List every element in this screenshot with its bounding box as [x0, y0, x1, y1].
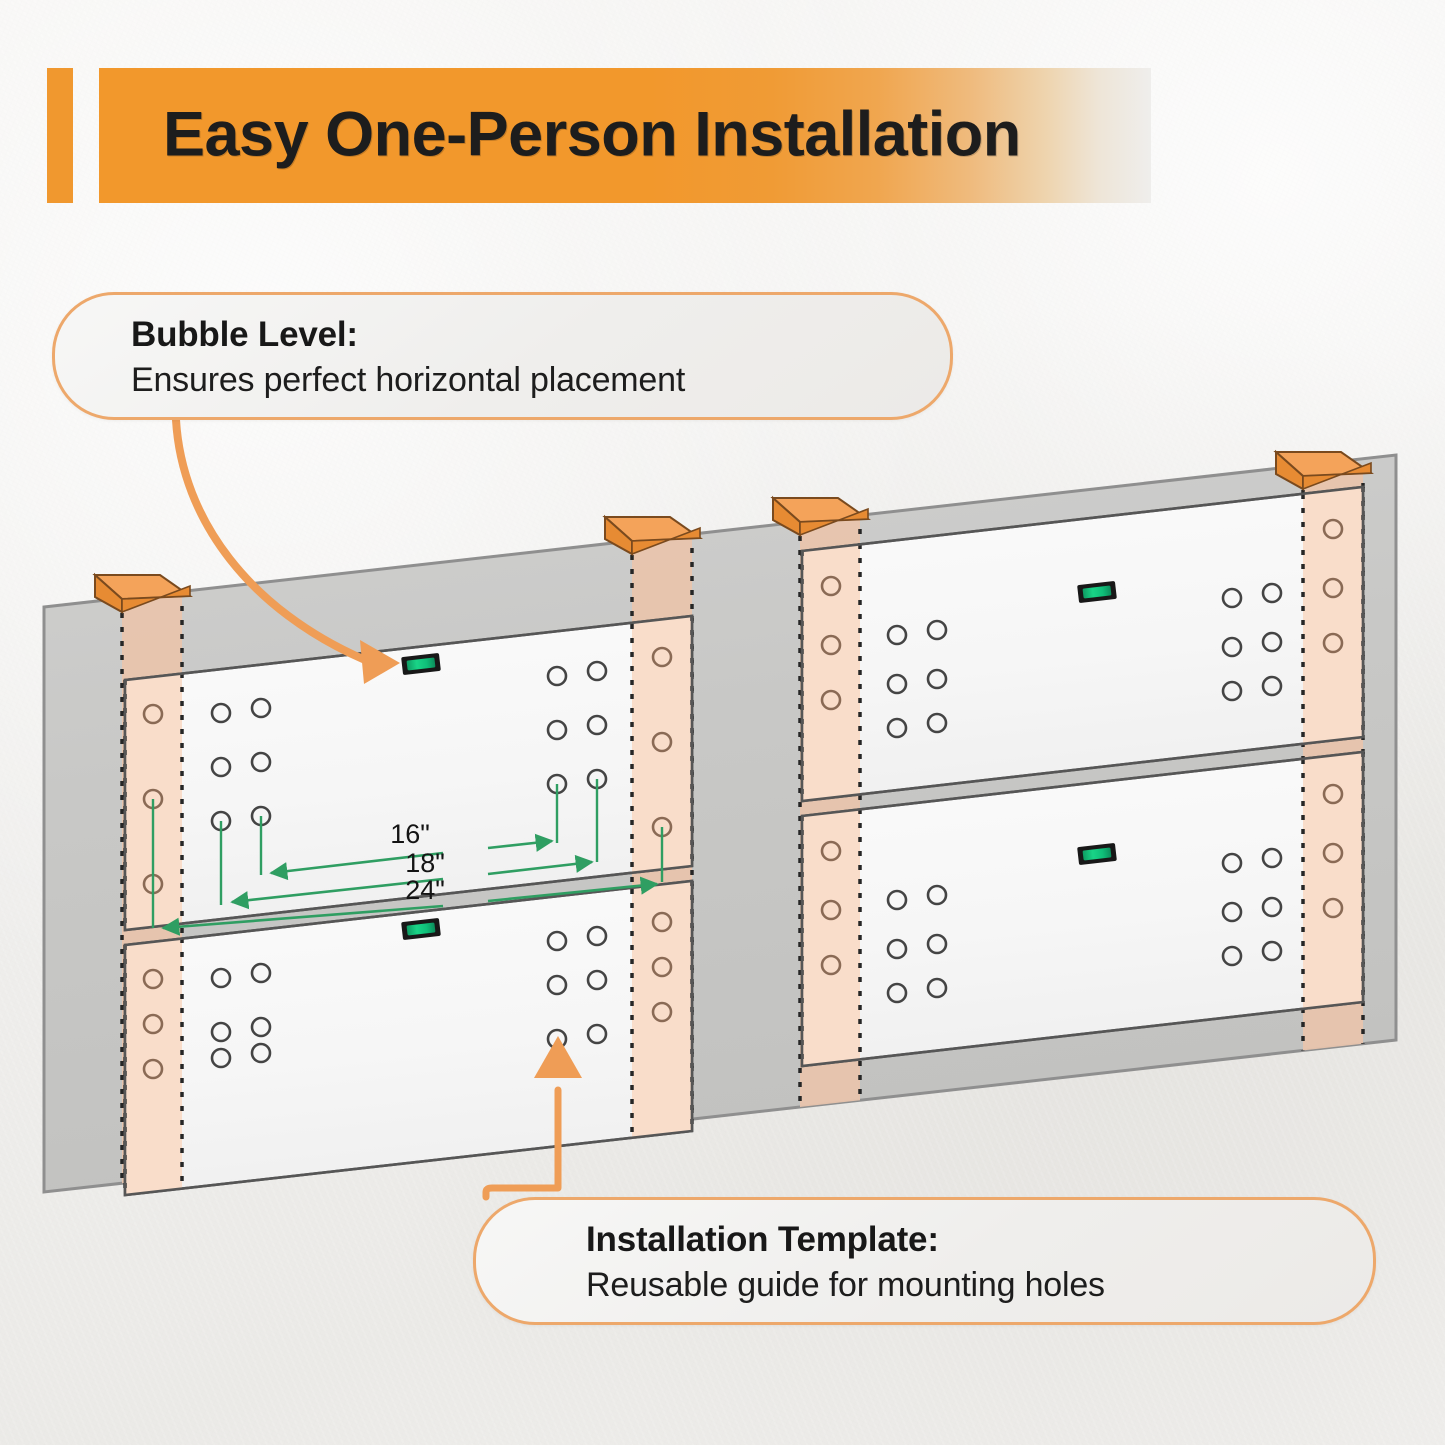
- callout-installation-template: Installation Template: Reusable guide fo…: [473, 1197, 1376, 1325]
- callout-bubble-level-title: Bubble Level:: [131, 313, 950, 358]
- measure-label-18: 18": [405, 848, 445, 878]
- callout-installation-template-title: Installation Template:: [586, 1218, 1373, 1263]
- callout-bubble-level-description: Ensures perfect horizontal placement: [131, 358, 950, 402]
- callout-bubble-level: Bubble Level: Ensures perfect horizontal…: [52, 292, 953, 420]
- measure-label-24: 24": [405, 875, 445, 905]
- measure-label-16: 16": [390, 819, 430, 849]
- callout-installation-template-description: Reusable guide for mounting holes: [586, 1263, 1373, 1307]
